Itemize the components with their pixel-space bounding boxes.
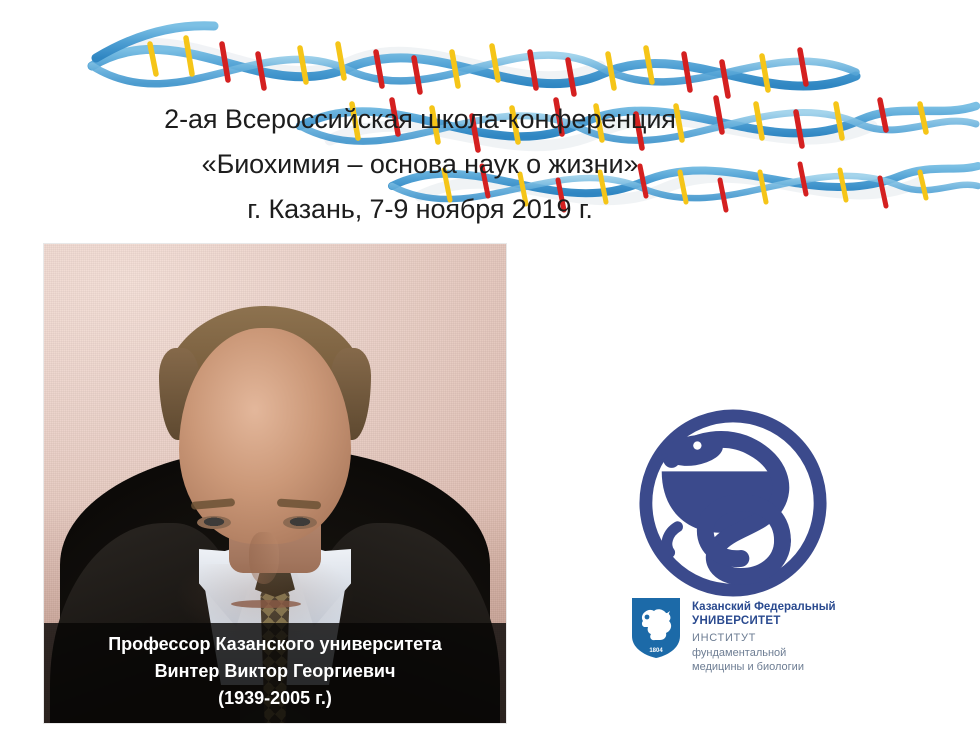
kfu-text-block: Казанский Федеральный УНИВЕРСИТЕТ ИНСТИТ… xyxy=(692,596,836,675)
title-line-2: «Биохимия – основа наук о жизни» xyxy=(0,142,840,187)
institute-line2: фундаментальной xyxy=(692,646,836,661)
kfu-zilant-shield-icon: 1804 xyxy=(630,596,682,660)
eyebrow-left xyxy=(191,498,236,510)
conference-title: 2-ая Всероссийская школа-конференция «Би… xyxy=(0,97,840,232)
portrait-caption: Профессор Казанского университета Винтер… xyxy=(44,623,506,723)
title-line-1: 2-ая Всероссийская школа-конференция xyxy=(0,97,840,142)
subject-face xyxy=(179,328,351,544)
institute-line3: медицины и биологии xyxy=(692,660,836,675)
mouth xyxy=(231,600,301,608)
portrait-photo: Профессор Казанского университета Винтер… xyxy=(44,244,506,723)
bowl-of-hygieia-serpent-icon xyxy=(634,404,832,602)
eye-right xyxy=(283,516,317,529)
dna-strand-a xyxy=(92,38,856,96)
eye-left xyxy=(197,516,231,529)
university-name-line1: Казанский Федеральный xyxy=(692,600,836,614)
institute-line1: ИНСТИТУТ xyxy=(692,631,836,646)
caption-line-3: (1939-2005 г.) xyxy=(44,685,506,712)
kfu-lockup: 1804 Казанский Федеральный УНИВЕРСИТЕТ И… xyxy=(630,596,836,675)
presentation-slide: 2-ая Всероссийская школа-конференция «Би… xyxy=(0,0,980,735)
dna-strand-tail xyxy=(96,26,214,58)
eyebrow-right xyxy=(277,498,321,509)
institute-logo-group: 1804 Казанский Федеральный УНИВЕРСИТЕТ И… xyxy=(622,404,942,694)
caption-line-2: Винтер Виктор Георгиевич xyxy=(44,658,506,685)
caption-line-1: Профессор Казанского университета xyxy=(44,631,506,658)
title-line-3: г. Казань, 7-9 ноября 2019 г. xyxy=(0,187,840,232)
shield-year: 1804 xyxy=(649,648,663,654)
nose xyxy=(249,532,279,584)
university-name-line2: УНИВЕРСИТЕТ xyxy=(692,614,836,628)
